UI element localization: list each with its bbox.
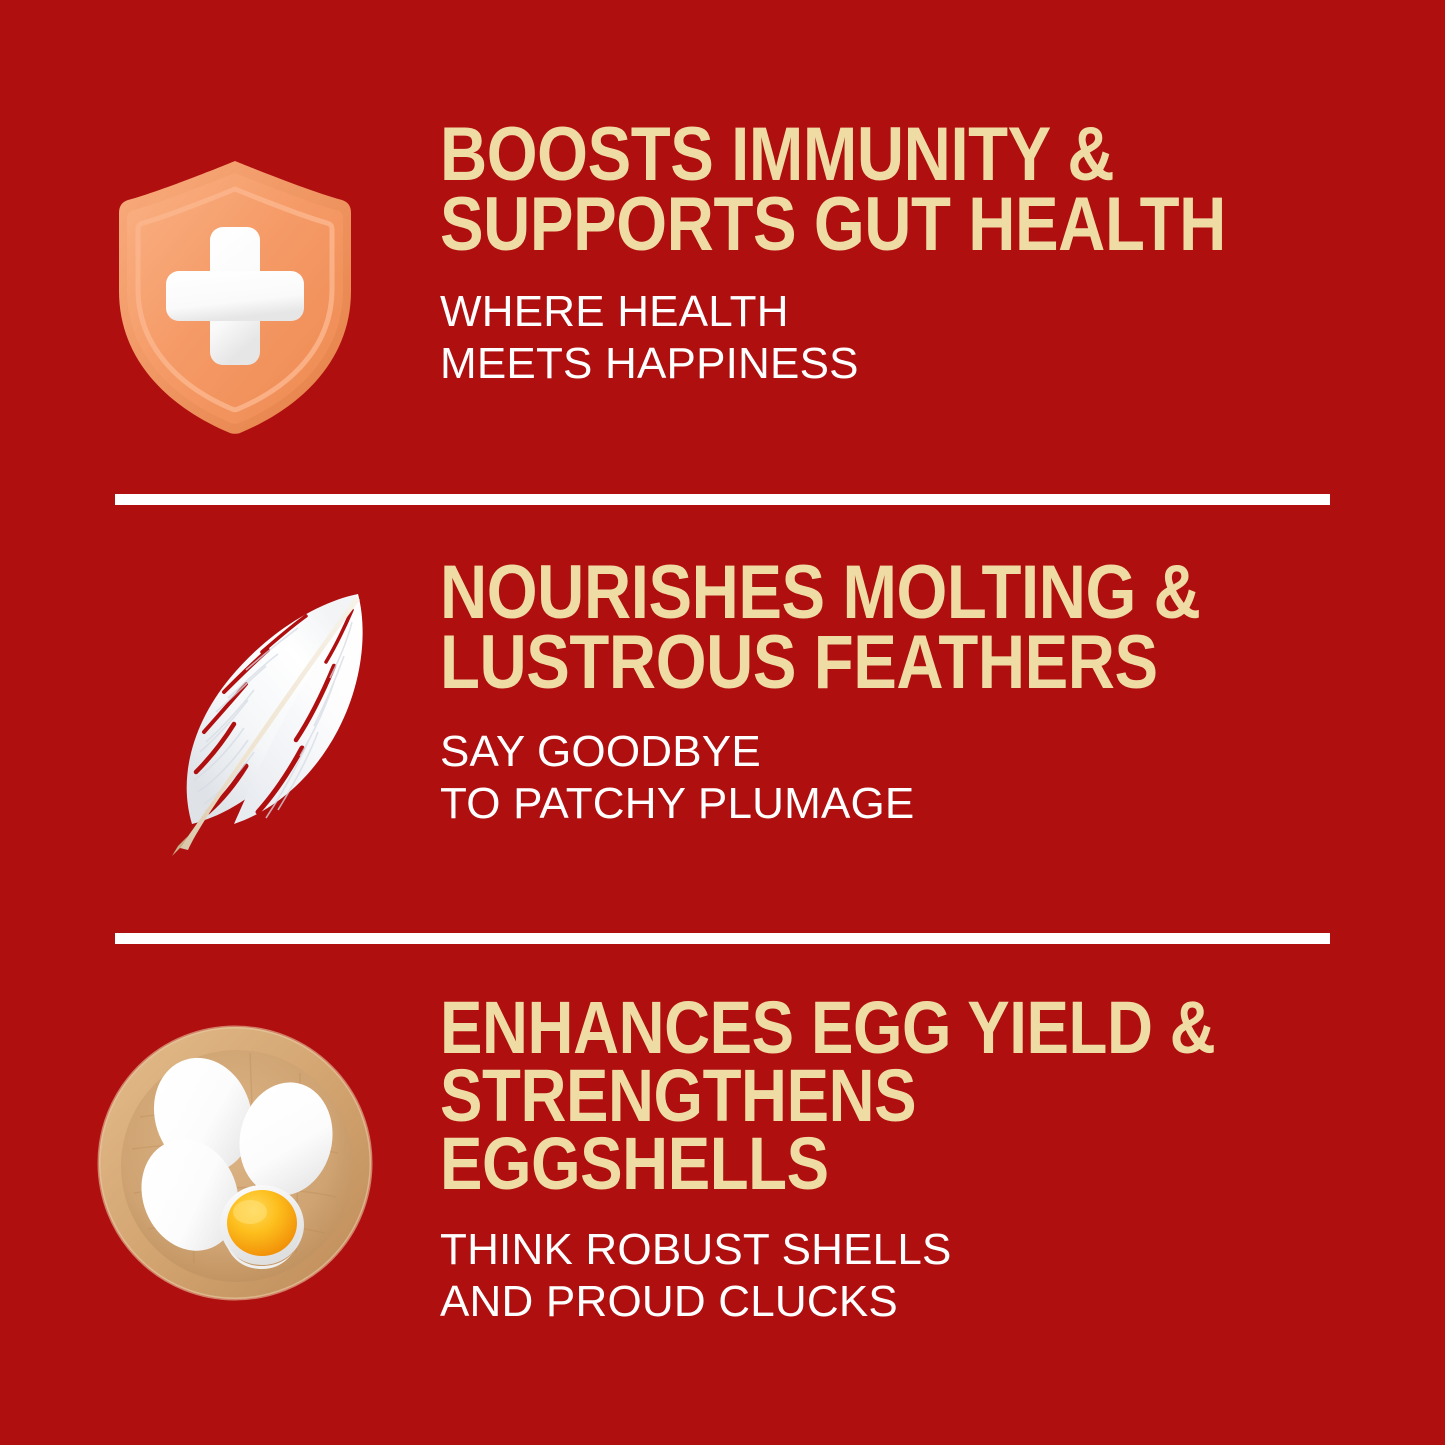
feather-icon: [100, 566, 410, 876]
feature-headline: ENHANCES EGG YIELD & STRENGTHENS EGGSHEL…: [440, 994, 1304, 1198]
icon-column: [0, 118, 440, 458]
feature-subline: SAY GOODBYE TO PATCHY PLUMAGE: [440, 726, 1324, 830]
feature-subline: WHERE HEALTH MEETS HAPPINESS: [440, 286, 1354, 390]
feature-headline: BOOSTS IMMUNITY & SUPPORTS GUT HEALTH: [440, 120, 1226, 260]
feature-row-immunity: BOOSTS IMMUNITY & SUPPORTS GUT HEALTH WH…: [0, 118, 1445, 478]
product-benefits-infographic: BOOSTS IMMUNITY & SUPPORTS GUT HEALTH WH…: [0, 0, 1445, 1445]
feature-row-eggs: ENHANCES EGG YIELD & STRENGTHENS EGGSHEL…: [0, 992, 1445, 1352]
feature-subline: THINK ROBUST SHELLS AND PROUD CLUCKS: [440, 1224, 1445, 1328]
feature-row-feathers: NOURISHES MOLTING & LUSTROUS FEATHERS SA…: [0, 556, 1445, 916]
shield-plus-icon: [110, 153, 360, 443]
text-column: ENHANCES EGG YIELD & STRENGTHENS EGGSHEL…: [440, 992, 1445, 1328]
section-divider: [115, 933, 1330, 944]
text-column: NOURISHES MOLTING & LUSTROUS FEATHERS SA…: [440, 556, 1324, 830]
icon-column: [0, 556, 440, 896]
egg-bowl-icon: [90, 1017, 380, 1307]
icon-column: [0, 992, 440, 1332]
feature-headline: NOURISHES MOLTING & LUSTROUS FEATHERS: [440, 558, 1200, 698]
section-divider: [115, 494, 1330, 505]
text-column: BOOSTS IMMUNITY & SUPPORTS GUT HEALTH WH…: [440, 118, 1354, 390]
